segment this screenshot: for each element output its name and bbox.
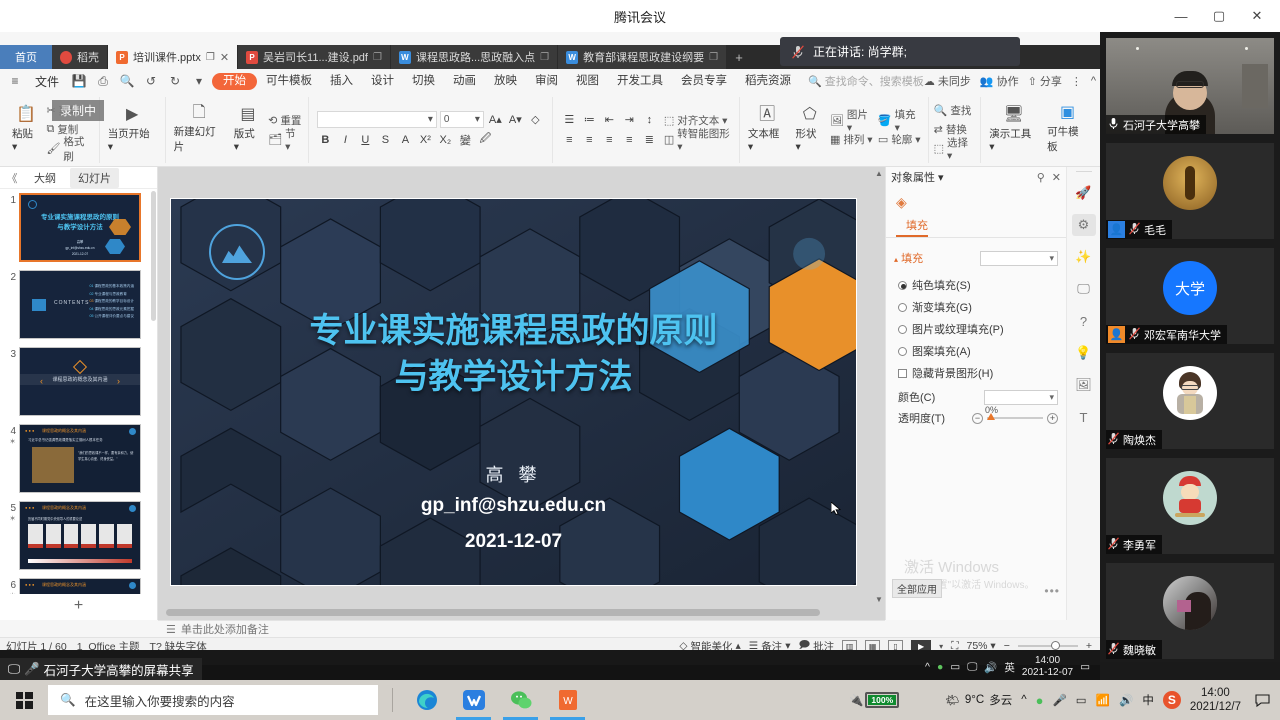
help-icon[interactable]: ? <box>1072 310 1096 332</box>
start-button[interactable] <box>0 680 48 720</box>
picture-icon: 🖼 <box>830 114 844 127</box>
notes-icon: ☰ <box>166 623 176 636</box>
host-badge-icon: 👤 <box>1108 221 1125 238</box>
notification-icon <box>1255 693 1270 708</box>
textbox-icon: 🄰 <box>759 107 775 123</box>
wps-office-window: 首页 稻壳P培训课件.pptx❐✕P吴岩司长11...建设.pdf❐W课程思政路… <box>0 32 1100 665</box>
taskbar-search-input[interactable]: 🔍 在这里输入你要搜索的内容 <box>48 685 378 715</box>
minimize-button[interactable]: — <box>1164 1 1198 31</box>
object-properties-pane: 对象属性 ▾ ⚲ ✕ ◈ 填充 ▴ 填充 ▾ 纯色填充(S)渐变填充(G)图片或… <box>885 167 1066 620</box>
thumbnail-number: 4✶ <box>2 424 16 446</box>
battery-percent: 100% <box>868 695 896 705</box>
slide-thumbnail-pane: 《 大纲 幻灯片 1专业课实施课程思政的原则与教学设计方法高攀gp_inf@sh… <box>0 167 158 620</box>
tab-outline[interactable]: 大纲 <box>26 168 64 188</box>
transparency-slider[interactable]: − 0% + <box>972 413 1058 424</box>
taskbar-app-wps[interactable]: W <box>544 680 591 720</box>
participant-name: 石河子大学高攀 <box>1123 117 1200 133</box>
convert-smartart-button[interactable]: ◫转智能图形 ▾ <box>664 131 734 148</box>
slide-title: 专业课实施课程思政的原则 与教学设计方法 <box>171 309 856 401</box>
volume-icon[interactable]: 🔊 <box>1119 693 1133 707</box>
notes-bar[interactable]: ☰ 单击此处添加备注 <box>158 620 885 637</box>
battery-tray-icon[interactable]: ▭ <box>1076 693 1087 707</box>
mic-icon: 🎤 <box>24 662 40 677</box>
wifi-icon[interactable]: 📶 <box>1096 693 1110 707</box>
inner-clock[interactable]: 14:00 2021-12-07 <box>1022 655 1073 679</box>
pane-more-icon[interactable]: ••• <box>1044 584 1060 598</box>
mic-muted-icon <box>792 45 804 59</box>
fill-option-2[interactable]: 图片或纹理填充(P) <box>886 318 1066 340</box>
mic-status-icon <box>1129 327 1140 343</box>
radio-icon <box>898 347 907 356</box>
decrease-indent-icon[interactable]: ⇤ <box>601 111 618 128</box>
share-owner: 石河子大学高攀的屏幕共享 <box>44 660 194 679</box>
ppt-icon: P <box>116 51 128 64</box>
bullet-list-icon[interactable]: ☰ <box>561 111 578 128</box>
fill-button[interactable]: 🪣填充 ▾ <box>878 112 923 129</box>
animation-star-icon: ✶ <box>2 437 16 446</box>
slide-canvas-area: ▲ ▼ <box>158 167 885 620</box>
properties-pane-title[interactable]: 对象属性 ▾ <box>891 169 944 185</box>
menu-icon[interactable]: ≡ <box>4 71 26 91</box>
ribbon-header-right: ☁未同步 👥协作 ⇧分享 ⋮ ^ <box>924 69 1096 93</box>
slide-thumbnail[interactable]: ● ● ●课程思政的概念及其内涵习近平总书记强调思政课是落实立德树人根本任务"我… <box>19 424 141 493</box>
slide-thumbnail[interactable]: 专业课实施课程思政的原则与教学设计方法高攀gp_inf@shzu.edu.cn2… <box>19 193 141 262</box>
mic-on-icon <box>1108 117 1119 130</box>
ribbon-group-font: ▾ 0▾ A▴ A▾ ◇ B I U S A X² <box>309 97 553 163</box>
properties-pane-header: 对象属性 ▾ ⚲ ✕ <box>886 167 1066 187</box>
participant-tile[interactable]: 👤毛毛 <box>1106 143 1274 239</box>
present-tools-icon: 🖥 <box>1004 107 1024 123</box>
select-button[interactable]: ⬚选择 ▾ <box>934 140 976 157</box>
find-button[interactable]: 🔍查找 <box>934 102 976 119</box>
copy-icon: ⧉ <box>46 123 54 136</box>
file-menu-button[interactable]: 文件 <box>28 72 66 91</box>
doc-icon: W <box>399 51 411 64</box>
wechat-icon <box>509 688 533 712</box>
thumbnail-number: 6✶ <box>2 578 16 594</box>
participant-video-column: 石河子大学高攀👤毛毛大学👤邓宏军南华大学陶焕杰李勇军魏晓敏 <box>1100 32 1280 662</box>
checkbox-icon <box>898 369 907 378</box>
ribbon-group-drawing: 🄰 文本框 ▾ ⬠ 形状 ▾ 🖼图片 ▾ ▦排列 ▾ 🪣填充 ▾ ▭轮廓 ▾ <box>740 97 929 163</box>
font-family-select[interactable]: ▾ <box>317 111 437 128</box>
text-effect-icon[interactable]: A <box>397 131 414 148</box>
doc-tab-2[interactable]: P吴岩司长11...建设.pdf❐ <box>238 45 391 69</box>
arrange-button[interactable]: ▦排列 ▾ <box>830 131 875 148</box>
find-icon: 🔍 <box>934 104 948 117</box>
cloud-icon <box>60 51 72 64</box>
ribbon-tab-3[interactable]: 设计 <box>362 71 403 91</box>
slide-thumbnail[interactable]: CONTENTS01 课程思政的基本政策内涵02 专业课程与思政教育03 课程思… <box>19 270 141 339</box>
doc-tab-label: 吴岩司长11...建设.pdf <box>263 49 368 65</box>
mic-icon[interactable]: 🎤 <box>1052 693 1066 707</box>
animation-star-icon: ✶ <box>2 514 16 523</box>
search-icon: 🔍 <box>808 75 822 88</box>
add-slide-button[interactable]: + <box>0 594 157 618</box>
participant-name-bar: 石河子大学高攀 <box>1106 115 1206 134</box>
taskbar-divider <box>392 688 393 712</box>
transparency-value: 0% <box>985 405 998 415</box>
clear-format-icon[interactable]: ◇ <box>527 111 544 128</box>
justify-icon[interactable]: ≡ <box>621 131 638 148</box>
participant-name-bar: 李勇军 <box>1106 535 1162 554</box>
arrange-icon: ▦ <box>830 133 840 146</box>
radio-icon <box>898 303 907 312</box>
fill-section-header[interactable]: ▴ 填充 ▾ <box>886 250 1066 266</box>
highlight-icon[interactable]: 🖉 <box>477 131 494 148</box>
mic-status-icon <box>1108 642 1119 658</box>
more-options-icon[interactable]: ⋮ <box>1071 75 1082 88</box>
doc-icon: W <box>566 51 578 64</box>
mic-muted-icon <box>1108 642 1119 655</box>
redo-icon[interactable]: ↻ <box>164 71 186 91</box>
shape-button[interactable]: ⬠ 形状 ▾ <box>793 100 827 160</box>
ribbon-tab-11[interactable]: 稻壳资源 <box>736 71 800 91</box>
participant-name-bar: 👤邓宏军南华大学 <box>1106 325 1227 344</box>
textbox-button[interactable]: 🄰 文本框 ▾ <box>745 100 790 160</box>
strikethrough-icon[interactable]: S <box>377 131 394 148</box>
outline-button[interactable]: ▭轮廓 ▾ <box>878 131 923 148</box>
inner-chevron-icon[interactable]: ^ <box>925 661 930 673</box>
ribbon-group-slides: 🗋 新建幻灯片 ▤ 版式 ▾ ⟲重置 🗂节 ▾ <box>166 97 309 163</box>
participant-name: 李勇军 <box>1123 537 1156 553</box>
ribbon-tab-2[interactable]: 插入 <box>321 71 362 91</box>
doc-tab-3[interactable]: W课程思政路...思政融入点❐ <box>391 45 558 69</box>
bold-icon[interactable]: B <box>317 131 334 148</box>
avatar <box>1163 471 1217 525</box>
edge-icon <box>415 688 439 712</box>
increase-transparency-icon[interactable]: + <box>1047 413 1058 424</box>
increase-indent-icon[interactable]: ⇥ <box>621 111 638 128</box>
monitor-icon: 🖵 <box>8 662 20 677</box>
thumbnail-scrollbar[interactable] <box>151 191 156 321</box>
thumbnail-row[interactable]: 1专业课实施课程思政的原则与教学设计方法高攀gp_inf@shzu.edu.cn… <box>0 189 157 266</box>
participant-name: 陶焕杰 <box>1123 432 1156 448</box>
undo-icon[interactable]: ↺ <box>140 71 162 91</box>
color-label: 颜色(C) <box>898 389 935 405</box>
taskbar-tray: 🔌 100% 🌤 9°C 多云 ^ ● 🎤 ▭ 📶 🔊 中 S 14:00 20… <box>849 680 1280 720</box>
align-center-icon[interactable]: ≡ <box>581 131 598 148</box>
fill-option-label: 渐变填充(G) <box>912 299 972 315</box>
thumbnail-number: 3 <box>2 347 16 360</box>
action-center-button[interactable] <box>1250 688 1274 712</box>
ribbon-tab-5[interactable]: 动画 <box>444 71 485 91</box>
battery-indicator[interactable]: 🔌 100% <box>849 692 899 708</box>
apply-to-all-button[interactable]: 全部应用 <box>892 579 942 598</box>
start-from-current-button[interactable]: ▶ 当页开始 ▾ <box>105 100 160 160</box>
print-preview-icon[interactable]: 🔍 <box>116 71 138 91</box>
weather-temp: 9°C <box>965 694 984 706</box>
mouse-cursor <box>831 502 842 515</box>
new-slide-icon: 🗋 <box>193 105 206 121</box>
volume-icon[interactable]: 🔊 <box>984 661 997 674</box>
slide-thumbnail[interactable]: ● ● ●课程思政的概念及其内涵 <box>19 578 141 594</box>
paste-icon: 📋 <box>16 107 36 123</box>
shared-screen-stage: 首页 稻壳P培训课件.pptx❐✕P吴岩司长11...建设.pdf❐W课程思政路… <box>0 32 1100 680</box>
participant-name-bar: 陶焕杰 <box>1106 430 1162 449</box>
tab-slides[interactable]: 幻灯片 <box>70 168 119 188</box>
qat-dropdown-icon[interactable]: ▾ <box>188 71 210 91</box>
slide-title-line1: 专业课实施课程思政的原则 <box>171 309 856 355</box>
color-picker[interactable]: ▾ <box>984 390 1058 405</box>
speaking-toast: 正在讲话: 尚学群; <box>780 37 1020 66</box>
doc-tab-minimize-icon[interactable]: ❐ <box>206 52 215 63</box>
ribbon-tab-6[interactable]: 放映 <box>485 71 526 91</box>
doc-tab-label: 培训课件.pptx <box>133 49 201 65</box>
paste-button[interactable]: 📋 粘贴 ▾ <box>9 100 43 160</box>
close-pane-icon[interactable]: ✕ <box>1052 171 1061 184</box>
decrease-font-icon[interactable]: A▾ <box>507 111 524 128</box>
cloud-sync-icon: ☁ <box>924 75 935 88</box>
transparency-row: 透明度(T) − 0% + <box>886 405 1066 426</box>
doc-tab-close-icon[interactable]: ✕ <box>220 51 229 64</box>
scroll-up-icon[interactable]: ▲ <box>874 169 884 178</box>
avatar <box>1163 366 1217 420</box>
taskbar-clock[interactable]: 14:00 2021/12/7 <box>1190 686 1241 715</box>
ribbon-tab-0[interactable]: 开始 <box>212 73 257 90</box>
image-tool-icon[interactable]: 🖼 <box>1072 374 1096 396</box>
slide-author: 高 攀 <box>171 461 856 487</box>
fill-option-label: 隐藏背景图形(H) <box>912 365 993 381</box>
notes-placeholder: 单击此处添加备注 <box>181 621 269 637</box>
fill-option-4[interactable]: 隐藏背景图形(H) <box>886 362 1066 384</box>
pin-icon[interactable]: ⚲ <box>1037 171 1045 184</box>
align-text-icon: ⬚ <box>664 114 674 127</box>
mic-muted-icon <box>1129 222 1140 235</box>
ribbon-header: ≡ 文件 💾 ⎙ 🔍 ↺ ↻ ▾ 开始可牛模板插入设计切换动画放映审阅视图开发工… <box>0 69 1100 93</box>
transparency-label: 透明度(T) <box>898 410 945 426</box>
doc-tab-minimize-icon[interactable]: ❐ <box>373 52 382 63</box>
ribbon-tab-4[interactable]: 切换 <box>403 71 444 91</box>
reset-icon: ⟲ <box>268 114 277 127</box>
thumbnail-number: 2 <box>2 270 16 283</box>
participant-tile[interactable]: 李勇军 <box>1106 458 1274 554</box>
rocket-icon[interactable]: 🚀 <box>1072 182 1096 204</box>
print-icon[interactable]: ⎙ <box>92 71 114 91</box>
doc-tab-label: 课程思政路...思政融入点 <box>416 49 535 65</box>
pdf-icon: P <box>246 51 258 64</box>
clock-date: 2021/12/7 <box>1190 700 1241 714</box>
doc-tab-minimize-icon[interactable]: ❐ <box>709 52 718 63</box>
canvas-horizontal-scrollbar[interactable] <box>166 609 877 616</box>
ribbon-group-play: ▶ 当页开始 ▾ <box>100 97 166 163</box>
save-icon[interactable]: 💾 <box>68 71 90 91</box>
distribute-icon[interactable]: ≣ <box>641 131 658 148</box>
underline-icon[interactable]: U <box>357 131 374 148</box>
slide-date: 2021-12-07 <box>171 531 856 553</box>
participant-name: 邓宏军南华大学 <box>1144 327 1221 343</box>
template-button[interactable]: ▣ 可牛模板 <box>1044 100 1091 160</box>
doc-tab-0[interactable]: 稻壳 <box>52 45 108 69</box>
weather-widget[interactable]: 🌤 9°C 多云 <box>945 692 1012 708</box>
doc-tab-minimize-icon[interactable]: ❐ <box>540 52 549 63</box>
collab-icon: 👥 <box>980 75 994 88</box>
ribbon-tab-1[interactable]: 可牛模板 <box>257 71 321 91</box>
mic-status-icon <box>1108 537 1119 553</box>
sogou-icon[interactable]: S <box>1163 691 1181 709</box>
chevron-down-icon: ▾ <box>475 114 480 125</box>
collapse-pane-icon[interactable]: 《 <box>4 170 20 186</box>
mic-muted-icon <box>1129 327 1140 340</box>
section-icon: 🗂 <box>268 133 282 146</box>
collapse-ribbon-icon[interactable]: ^ <box>1091 75 1096 87</box>
new-tab-button[interactable]: + <box>727 45 751 69</box>
align-right-icon[interactable]: ≡ <box>601 131 618 148</box>
number-list-icon[interactable]: ≔ <box>581 111 598 128</box>
fill-option-0[interactable]: 纯色填充(S) <box>886 274 1066 296</box>
battery-icon[interactable]: ▭ <box>950 661 960 673</box>
clock-time: 14:00 <box>1190 686 1241 700</box>
sliders-icon[interactable]: ⚙ <box>1072 214 1096 236</box>
tencent-meeting-icon <box>462 688 486 712</box>
slide-email: gp_inf@shzu.edu.cn <box>171 495 856 517</box>
participant-name-bar: 👤毛毛 <box>1106 220 1172 239</box>
mic-status-icon <box>1129 222 1140 238</box>
char-spacing-icon[interactable]: 變 <box>457 131 474 148</box>
fill-icon: 🪣 <box>878 114 892 127</box>
thumbnail-row[interactable]: 5✶● ● ●课程思政的概念及其内涵历届不同时期党中央领导人的重要论述 <box>0 497 157 574</box>
font-size-select[interactable]: 0▾ <box>440 111 484 128</box>
doc-tab-label: 稻壳 <box>77 49 99 65</box>
fill-tab[interactable]: 填充 <box>896 217 928 237</box>
ribbon-search-placeholder: 查找命令、搜索模板 <box>825 73 924 89</box>
replace-icon: ⇄ <box>934 123 943 136</box>
taskbar-app-tencent-meeting[interactable] <box>450 680 497 720</box>
italic-icon[interactable]: I <box>337 131 354 148</box>
picture-button[interactable]: 🖼图片 ▾ <box>830 112 875 129</box>
participant-name: 魏晓敏 <box>1123 642 1156 658</box>
mic-muted-icon <box>1108 537 1119 550</box>
slide-canvas[interactable]: 专业课实施课程思政的原则 与教学设计方法 高 攀 gp_inf@shzu.edu… <box>170 198 857 586</box>
meeting-window-title: 腾讯会议 <box>614 7 666 26</box>
template-icon: ▣ <box>1060 105 1075 121</box>
play-icon: ▶ <box>126 107 138 123</box>
new-slide-button[interactable]: 🗋 新建幻灯片 <box>171 100 228 160</box>
weather-desc: 多云 <box>989 692 1012 708</box>
wps-home-tab[interactable]: 首页 <box>0 45 52 69</box>
doc-tab-4[interactable]: W教育部课程思政建设纲要❐ <box>558 45 727 69</box>
participant-tile[interactable]: 陶焕杰 <box>1106 353 1274 449</box>
wechat-tray-icon[interactable]: ● <box>1036 693 1044 708</box>
thumbnail-row[interactable]: 2CONTENTS01 课程思政的基本政策内涵02 专业课程与思政教育03 课程… <box>0 266 157 343</box>
ime-indicator[interactable]: 中 <box>1142 692 1154 708</box>
align-left-icon[interactable]: ≡ <box>561 131 578 148</box>
maximize-button[interactable]: ▢ <box>1202 1 1236 31</box>
screen-share-label: 🖵 🎤 石河子大学高攀的屏幕共享 <box>0 658 202 680</box>
ribbon-group-editing: 🔍查找 ⇄替换 ⬚选择 ▾ <box>929 97 982 163</box>
doc-tab-1[interactable]: P培训课件.pptx❐✕ <box>108 45 238 69</box>
share-button[interactable]: ⇧分享 <box>1028 73 1062 89</box>
mic-status-icon <box>1108 432 1119 448</box>
slide-thumbnail[interactable]: ● ● ●课程思政的概念及其内涵历届不同时期党中央领导人的重要论述 <box>19 501 141 570</box>
lightbulb-icon[interactable]: 💡 <box>1072 342 1096 364</box>
recording-badge: 录制中 <box>52 100 104 121</box>
ribbon-body: 📋 粘贴 ▾ ✂剪切 ⧉复制 🖌格式刷 ▶ 当页开始 ▾ <box>0 93 1100 167</box>
avatar <box>1163 156 1217 210</box>
decrease-transparency-icon[interactable]: − <box>972 413 983 424</box>
ribbon-group-paragraph: ☰ ≔ ⇤ ⇥ ↕ ≡ ≡ ≡ ≡ ≣ <box>553 97 740 163</box>
shape-icon: ⬠ <box>803 107 817 123</box>
layout-icon: ▤ <box>240 107 255 123</box>
thumbnail-list[interactable]: 1专业课实施课程思政的原则与教学设计方法高攀gp_inf@shzu.edu.cn… <box>0 189 157 594</box>
thumbnail-number: 5✶ <box>2 501 16 523</box>
taskbar-app-edge[interactable] <box>403 680 450 720</box>
participant-tile[interactable]: 大学👤邓宏军南华大学 <box>1106 248 1274 344</box>
taskbar-app-wechat[interactable] <box>497 680 544 720</box>
format-painter-icon: 🖌 <box>46 142 60 155</box>
thumbnail-row[interactable]: 4✶● ● ●课程思政的概念及其内涵习近平总书记强调思政课是落实立德树人根本任务… <box>0 420 157 497</box>
windows-taskbar: 🔍 在这里输入你要搜索的内容 W <box>0 680 1280 720</box>
layout-button[interactable]: ▤ 版式 ▾ <box>231 100 265 160</box>
participant-tile[interactable]: 石河子大学高攀 <box>1106 38 1274 134</box>
color-row: 颜色(C) ▾ <box>886 384 1066 405</box>
meeting-titlebar: 腾讯会议 — ▢ ✕ <box>0 0 1280 32</box>
screen-share-icon[interactable]: 🖵 <box>1072 278 1096 300</box>
thumbnail-row[interactable]: 3课程思政的概念及其内涵‹› <box>0 343 157 420</box>
fill-preset-combo[interactable]: ▾ <box>980 251 1058 266</box>
fill-option-label: 图片或纹理填充(P) <box>912 321 1004 337</box>
ribbon-tab-10[interactable]: 会员专享 <box>672 71 736 91</box>
increase-font-icon[interactable]: A▴ <box>487 111 504 128</box>
thumbnail-row[interactable]: 6✶● ● ●课程思政的概念及其内涵 <box>0 574 157 594</box>
outline-icon: ▭ <box>878 133 888 146</box>
display-icon[interactable]: 🖵 <box>967 661 977 674</box>
present-tools-button[interactable]: 🖥 演示工具 ▾ <box>986 100 1041 160</box>
mic-status-icon <box>1108 117 1119 133</box>
ribbon-tab-8[interactable]: 视图 <box>567 71 608 91</box>
doc-tab-label: 教育部课程思政建设纲要 <box>583 49 704 65</box>
participant-tile[interactable]: 魏晓敏 <box>1106 563 1274 659</box>
weather-icon: 🌤 <box>945 693 960 707</box>
subscript-icon[interactable]: X₂ <box>437 131 454 148</box>
wechat-icon[interactable]: ● <box>937 661 943 673</box>
radio-icon <box>898 281 907 290</box>
fill-option-1[interactable]: 渐变填充(G) <box>886 296 1066 318</box>
start-icon <box>16 692 33 709</box>
smartart-icon: ◫ <box>664 133 674 146</box>
magic-star-icon[interactable]: ✨ <box>1072 246 1096 268</box>
ribbon-search[interactable]: 🔍 查找命令、搜索模板 <box>808 73 924 89</box>
ribbon-tab-9[interactable]: 开发工具 <box>608 71 672 91</box>
scroll-down-icon[interactable]: ▼ <box>874 595 884 604</box>
superscript-icon[interactable]: X² <box>417 131 434 148</box>
radio-icon <box>898 325 907 334</box>
slide-thumbnail[interactable]: 课程思政的概念及其内涵‹› <box>19 347 141 416</box>
chevron-down-icon: ▾ <box>428 114 433 125</box>
zoom-slider[interactable] <box>1018 645 1078 647</box>
format-painter-button[interactable]: 🖌格式刷 <box>46 140 93 157</box>
ribbon-group-tools: 🖥 演示工具 ▾ ▣ 可牛模板 <box>981 97 1096 163</box>
collab-button[interactable]: 👥协作 <box>980 73 1019 89</box>
section-button[interactable]: 🗂节 ▾ <box>268 131 303 148</box>
participant-name-bar: 魏晓敏 <box>1106 640 1162 659</box>
cloud-sync-status[interactable]: ☁未同步 <box>924 73 971 89</box>
inner-taskbar-tray: ^ ● ▭ 🖵 🔊 英 14:00 2021-12-07 ▭ <box>925 655 1090 679</box>
inner-ime[interactable]: 英 <box>1004 660 1015 675</box>
meeting-window-controls: — ▢ ✕ <box>1164 0 1274 32</box>
cohost-badge-icon: 👤 <box>1108 326 1125 343</box>
close-button[interactable]: ✕ <box>1240 1 1274 31</box>
text-tool-icon[interactable]: T <box>1072 406 1096 428</box>
fill-tool-icon: ◈ <box>886 187 1066 217</box>
ribbon-tab-7[interactable]: 审阅 <box>526 71 567 91</box>
fill-option-3[interactable]: 图案填充(A) <box>886 340 1066 362</box>
line-spacing-icon[interactable]: ↕ <box>641 111 658 128</box>
inner-notification-icon[interactable]: ▭ <box>1080 661 1090 673</box>
thumbnail-number: 1 <box>2 193 16 206</box>
tray-chevron-icon[interactable]: ^ <box>1021 694 1026 706</box>
university-logo <box>209 224 265 280</box>
slide-title-line2: 与教学设计方法 <box>171 355 856 401</box>
